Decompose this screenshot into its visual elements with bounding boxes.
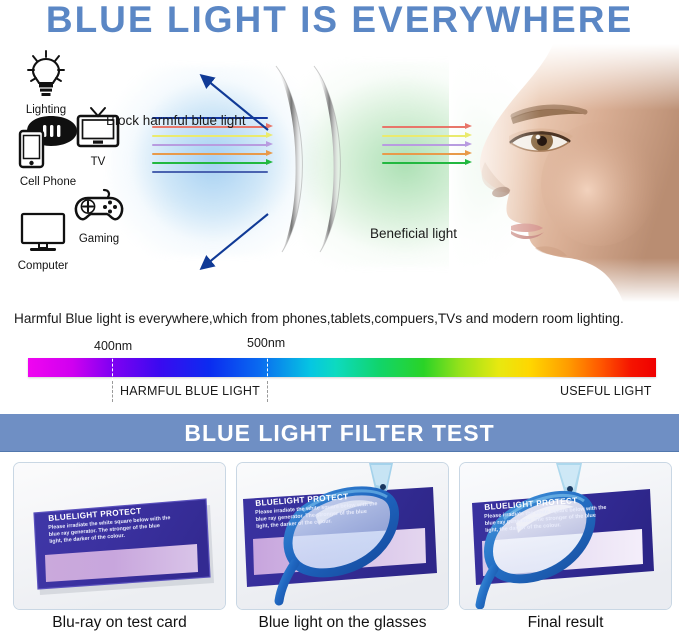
outgoing-green-ray-4 xyxy=(382,162,467,164)
tick-500nm xyxy=(267,354,268,381)
panel-blu-ray-on-test-card: BLUELIGHT PROTECT Please irradiate the w… xyxy=(13,462,226,610)
tick-400nm-lower xyxy=(112,381,113,402)
incoming-orange-ray-4 xyxy=(152,153,268,155)
source-item-cell-phone: Cell Phone xyxy=(10,114,86,188)
tick-400nm xyxy=(112,354,113,381)
outgoing-orange-ray-3 xyxy=(382,153,467,155)
incoming-blue-ray-lower-6 xyxy=(152,171,268,173)
label-useful-light: USEFUL LIGHT xyxy=(560,384,652,398)
test-card-photo-2 xyxy=(237,463,449,610)
deflected-blue-ray-down xyxy=(196,210,272,279)
caption-final-result: Final result xyxy=(459,614,672,632)
incoming-ray-arrowhead-4 xyxy=(266,150,273,156)
incoming-violet-ray-3 xyxy=(152,144,268,146)
test-card-photo-3 xyxy=(460,463,672,610)
label-500nm: 500nm xyxy=(247,336,285,350)
blue-light-diagram: Block harmful blue light Beneficial ligh… xyxy=(0,44,679,302)
outgoing-yellow-ray-1 xyxy=(382,135,467,137)
outgoing-ray-arrowhead-4 xyxy=(465,159,472,165)
label-400nm: 400nm xyxy=(94,339,132,353)
tick-500nm-lower xyxy=(267,381,268,402)
source-item-computer: Computer xyxy=(6,212,80,272)
label-beneficial-light: Beneficial light xyxy=(370,226,457,241)
caption-blu-ray-on-test-card: Blu-ray on test card xyxy=(13,614,226,632)
outgoing-ray-arrowhead-0 xyxy=(465,123,472,129)
outgoing-ray-arrowhead-1 xyxy=(465,132,472,138)
outgoing-ray-arrowhead-3 xyxy=(465,150,472,156)
label-block-harmful-blue-light: Block harmful blue light xyxy=(106,113,246,128)
spectrum-scale: 400nm 500nm HARMFUL BLUE LIGHT USEFUL LI… xyxy=(0,340,679,402)
outgoing-red-ray-0 xyxy=(382,126,467,128)
smartphone-icon xyxy=(10,114,86,175)
outgoing-ray-arrowhead-2 xyxy=(465,141,472,147)
deflected-blue-ray-up xyxy=(196,70,272,139)
panel-blue-light-on-the-glasses: BLUELIGHT PROTECT Please irradiate the w… xyxy=(236,462,449,610)
spectrum-gradient-bar xyxy=(28,358,656,377)
source-label-computer: Computer xyxy=(6,260,80,272)
harmful-light-sentence: Harmful Blue light is everywhere,which f… xyxy=(14,311,674,326)
monitor-icon xyxy=(6,212,80,259)
label-harmful-blue-light: HARMFUL BLUE LIGHT xyxy=(120,384,260,398)
panel-final-result: BLUELIGHT PROTECT Please irradiate the w… xyxy=(459,462,672,610)
caption-blue-light-on-the-glasses: Blue light on the glasses xyxy=(236,614,449,632)
filter-test-banner: BLUE LIGHT FILTER TEST xyxy=(0,414,679,452)
lightbulb-icon xyxy=(12,50,80,103)
source-item-lighting: Lighting xyxy=(12,50,80,116)
incoming-green-ray-5 xyxy=(152,162,268,164)
incoming-ray-arrowhead-3 xyxy=(266,141,273,147)
outgoing-violet-ray-2 xyxy=(382,144,467,146)
face-profile-photo xyxy=(449,44,679,302)
incoming-ray-arrowhead-5 xyxy=(266,159,273,165)
page-title: BLUE LIGHT IS EVERYWHERE xyxy=(0,0,679,42)
